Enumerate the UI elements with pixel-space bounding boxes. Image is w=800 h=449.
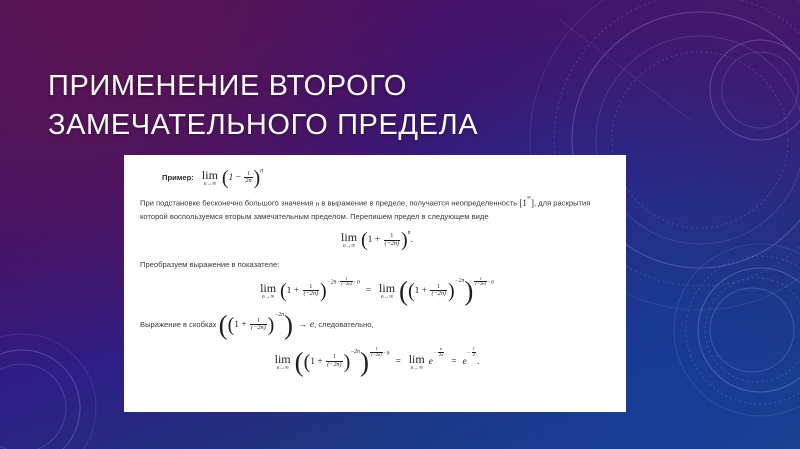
lim-operator: lim n→∞ (341, 231, 357, 249)
paren-open-outer: ( (295, 347, 304, 377)
content-panel: Пример: lim n→∞ (1 − 12n)n При подстанов… (124, 155, 626, 412)
inline-var-n: n (315, 198, 319, 210)
fraction: 1(−2n) (326, 354, 342, 368)
title-line-2: ЗАМЕЧАТЕЛЬНОГО ПРЕДЕЛА (48, 109, 478, 141)
fraction: 1(−2n) (303, 284, 319, 298)
paren-close-outer: ) (284, 310, 293, 340)
paren-open-outer: ( (219, 310, 228, 340)
paren-open-inner: ( (408, 280, 415, 302)
title-line-1: ПРИМЕНЕНИЕ ВТОРОГО (48, 70, 407, 102)
outer-exponent-group: 1(−2n)· n (369, 348, 390, 359)
exponent-group: −2n ·1(−2n)· n (327, 277, 360, 288)
fraction: 1(−2n) (250, 318, 266, 332)
paren-close: ) (320, 280, 327, 302)
fraction: 1(−2n) (384, 233, 400, 247)
example-formula: lim n→∞ (1 − 12n)n (200, 169, 263, 187)
arrow-icon: → (298, 319, 307, 329)
e2-exponent: −12 (467, 348, 477, 359)
paragraph-3: Выражение в скобках ((1 + 1(−2n))−2n) →e… (140, 313, 612, 337)
paren-close-inner: ) (268, 314, 275, 336)
lim-operator: lim n→∞ (260, 282, 276, 300)
example-label: Пример: (162, 173, 194, 182)
fraction: 1(−2n) (430, 284, 446, 298)
paren-close-outer: ) (464, 276, 473, 306)
slide: ПРИМЕНЕНИЕ ВТОРОГО ЗАМЕЧАТЕЛЬНОГО ПРЕДЕЛ… (0, 0, 800, 449)
lim-operator: lim n→∞ (379, 282, 395, 300)
paragraph-2: Преобразуем выражение в показателе: (140, 259, 612, 271)
paren-close-outer: ) (360, 347, 369, 377)
lim-operator: lim n→∞ (275, 353, 291, 371)
formula-3: ((1 + 1(−2n))−2n) →e (219, 313, 315, 337)
paren-open: ( (361, 230, 368, 252)
outer-exponent-group: 1(−2n)· n (473, 277, 494, 288)
lim-operator: lim n→∞ (202, 169, 218, 187)
formula-4: lim n→∞ ((1 + 1(−2n))−2n)1(−2n)· n = lim… (140, 350, 612, 374)
paragraph-1: При подстановке бесконечно большого знач… (140, 196, 612, 223)
page-title: ПРИМЕНЕНИЕ ВТОРОГО ЗАМЕЧАТЕЛЬНОГО ПРЕДЕЛ… (48, 67, 608, 144)
indeterminate-form: [1∞] (519, 196, 534, 211)
paren-open: ( (280, 280, 287, 302)
paren-close: ) (401, 230, 408, 252)
lim-operator: lim n→∞ (409, 353, 425, 371)
paren-close-inner: ) (344, 351, 351, 373)
formula-2: lim n→∞ (1 + 1(−2n))−2n ·1(−2n)· n = lim… (140, 279, 612, 303)
paren-close-inner: ) (448, 280, 455, 302)
fraction-1-over-2n: 12n (244, 171, 252, 185)
paren-close: ) (254, 167, 261, 189)
formula-1: lim n→∞ (1 + 1(−2n))n. (140, 231, 612, 249)
paren-open-outer: ( (399, 276, 408, 306)
example-line: Пример: lim n→∞ (1 − 12n)n (162, 169, 612, 187)
e-exponent: −n2n (433, 348, 446, 359)
paren-open: ( (222, 167, 229, 189)
